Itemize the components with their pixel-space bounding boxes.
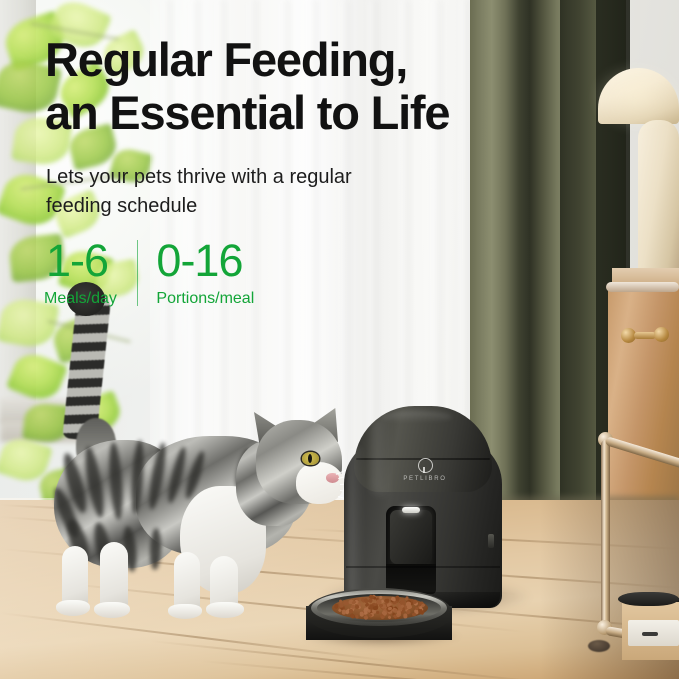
subheadline-line-1: Lets your pets thrive with a regular bbox=[46, 163, 446, 192]
stat-portions-value: 0-16 bbox=[156, 238, 254, 283]
tabby-cat bbox=[40, 290, 340, 620]
headline-line-1: Regular Feeding, bbox=[45, 34, 605, 87]
feeder-base-seam bbox=[346, 566, 500, 568]
shelf-top-plate bbox=[618, 592, 679, 606]
brand-logo: PETLIBRO bbox=[388, 458, 462, 482]
stat-meals-value: 1-6 bbox=[44, 238, 117, 283]
product-marketing-image: PETLIBRO Regular Feeding, an Essential t… bbox=[0, 0, 679, 679]
stat-portions-label: Portions/meal bbox=[156, 290, 254, 308]
feeder-chute-inner bbox=[390, 510, 432, 564]
rail-foot bbox=[588, 640, 610, 652]
rail-vertical-post bbox=[601, 440, 610, 628]
cat-eye-pupil bbox=[308, 454, 312, 463]
stat-portions-per-meal: 0-16 Portions/meal bbox=[156, 238, 254, 308]
kibble bbox=[359, 611, 364, 617]
cat-paw-front-far bbox=[168, 604, 202, 619]
stats-divider bbox=[137, 240, 139, 306]
stats-row: 1-6 Meals/day 0-16 Portions/meal bbox=[44, 238, 254, 308]
feeder-highlight-left bbox=[348, 446, 364, 596]
lamp-body bbox=[638, 120, 679, 278]
cat-paw-front-near bbox=[206, 602, 244, 618]
lamp-glow bbox=[592, 62, 679, 132]
petlibro-logo-icon bbox=[418, 458, 433, 473]
food-bowl bbox=[306, 584, 452, 646]
wooden-cabinet bbox=[608, 286, 679, 516]
feeder-highlight-top bbox=[372, 416, 392, 496]
brand-name: PETLIBRO bbox=[388, 476, 462, 482]
cabinet-rail bbox=[606, 282, 679, 292]
pet-feeder: PETLIBRO bbox=[338, 406, 508, 606]
headline-line-2: an Essential to Life bbox=[45, 87, 605, 140]
stat-meals-per-day: 1-6 Meals/day bbox=[44, 238, 117, 308]
cat-stripe bbox=[149, 528, 161, 570]
shelf-drawer-handle bbox=[642, 632, 658, 636]
subheadline: Lets your pets thrive with a regular fee… bbox=[46, 163, 446, 221]
cat-paw-rear-far bbox=[56, 600, 90, 616]
cat-muzzle bbox=[296, 462, 344, 504]
subheadline-line-2: feeding schedule bbox=[46, 192, 446, 221]
cabinet-knob-right bbox=[654, 327, 669, 342]
feeder-power-port bbox=[488, 534, 494, 548]
cat-paw-rear-near bbox=[94, 602, 130, 618]
stat-meals-label: Meals/day bbox=[44, 290, 117, 308]
cabinet-handle-bar bbox=[634, 332, 656, 339]
feeder-led-indicator[interactable] bbox=[402, 507, 420, 513]
headline: Regular Feeding, an Essential to Life bbox=[45, 34, 605, 139]
